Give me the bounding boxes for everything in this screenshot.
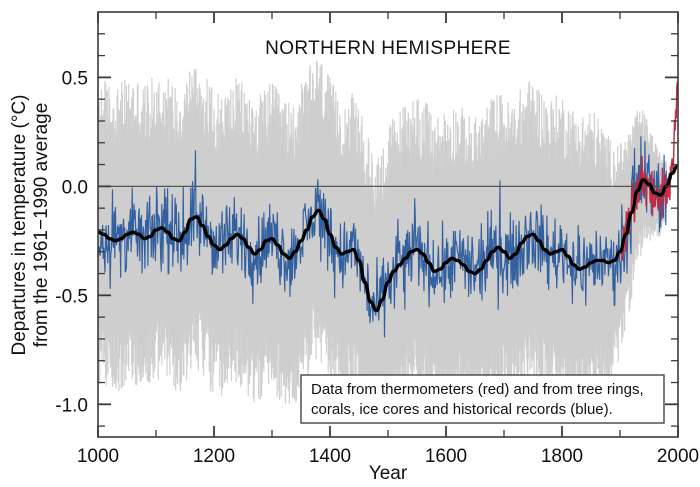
y-tick-label: 0.0 — [62, 177, 88, 198]
legend-box-group: Data from thermometers (red) and from tr… — [301, 375, 664, 423]
y-tick-label: -1.0 — [55, 395, 88, 416]
y-axis-title-line2: from the 1961−1990 average — [31, 103, 52, 348]
plot-title: NORTHERN HEMISPHERE — [265, 38, 511, 59]
x-axis-title: Year — [369, 463, 408, 484]
legend-text-line1: Data from thermometers (red) and from tr… — [311, 381, 644, 398]
temperature-reconstruction-chart: 0.50.0-0.5-1.0 100012001400160018002000 … — [0, 0, 700, 487]
x-tick-label: 1800 — [541, 446, 583, 467]
figure-container: 0.50.0-0.5-1.0 100012001400160018002000 … — [0, 0, 700, 487]
x-tick-label: 2000 — [657, 446, 699, 467]
x-tick-label: 1200 — [193, 446, 235, 467]
x-tick-label: 1400 — [309, 446, 351, 467]
x-tick-label: 1000 — [77, 446, 119, 467]
y-tick-label: 0.5 — [62, 68, 88, 89]
x-tick-label: 1600 — [425, 446, 467, 467]
y-tick-label: -0.5 — [55, 286, 88, 307]
legend-text-line2: corals, ice cores and historical records… — [311, 401, 613, 418]
y-axis-title-line1: Departures in temperature (°C) — [9, 94, 30, 355]
